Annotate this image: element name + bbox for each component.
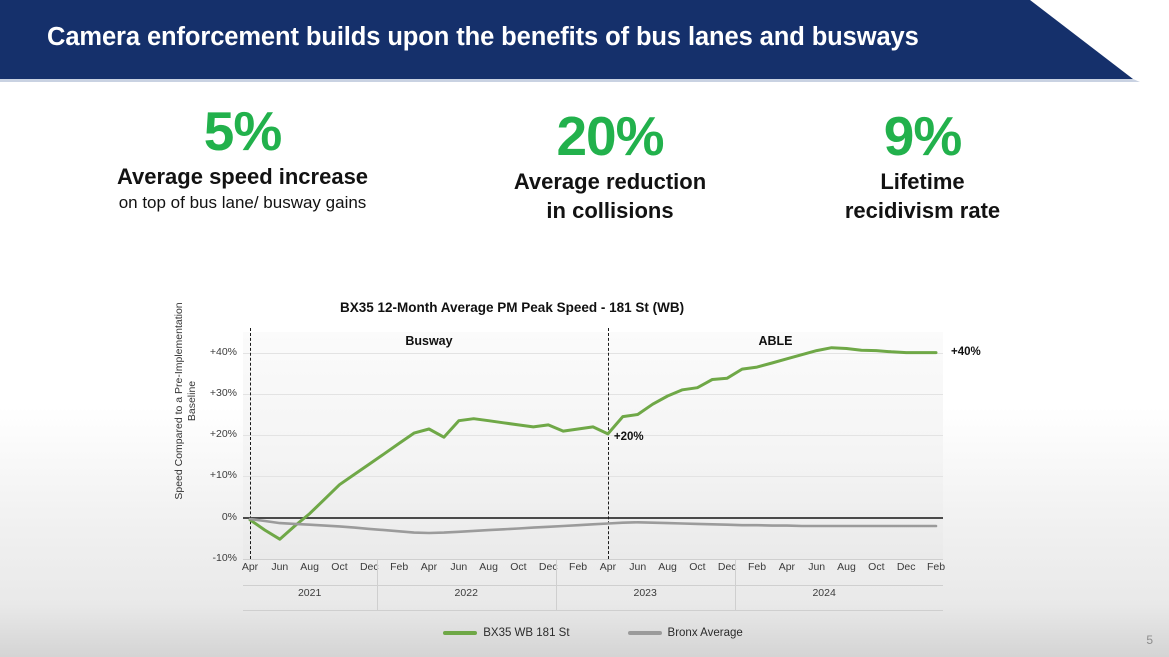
x-axis-month-tick: Apr	[600, 561, 616, 573]
x-axis-month-tick: Feb	[748, 561, 766, 573]
stat-headline-line1: Lifetime	[775, 167, 1070, 196]
x-axis-month-tick: Feb	[569, 561, 587, 573]
legend-label: Bronx Average	[668, 627, 743, 639]
legend-item-bronx-average: Bronx Average	[628, 627, 743, 639]
x-axis-year-label: 2023	[634, 587, 657, 599]
y-axis-tick: +30%	[177, 387, 237, 399]
legend-label: BX35 WB 181 St	[483, 627, 569, 639]
y-axis-tick: +10%	[177, 469, 237, 481]
y-axis-tick: 0%	[177, 511, 237, 523]
series-line-bronx-average	[250, 519, 936, 533]
page-title: Camera enforcement builds upon the benef…	[47, 23, 919, 52]
callout-40: +40%	[951, 346, 981, 358]
x-axis-month-tick: Jun	[808, 561, 825, 573]
x-axis-month-tick: Oct	[331, 561, 347, 573]
chart-legend: BX35 WB 181 St Bronx Average	[243, 622, 943, 644]
phase-label-able: ABLE	[758, 334, 792, 348]
series-line-bx35-wb-181-st	[250, 348, 936, 540]
axis-rule	[243, 559, 943, 560]
x-axis-month-tick: Feb	[390, 561, 408, 573]
stat-number: 20%	[455, 105, 765, 167]
x-axis-month-tick: Apr	[242, 561, 258, 573]
phase-label-busway: Busway	[405, 334, 452, 348]
x-axis-month-tick: Oct	[689, 561, 705, 573]
x-axis-month-tick: Apr	[779, 561, 795, 573]
x-axis-month-tick: Jun	[629, 561, 646, 573]
x-axis-band: AprJunAugOctDecFebAprJunAugOctDecFebAprJ…	[243, 559, 943, 611]
x-axis-month-tick: Jun	[271, 561, 288, 573]
x-axis-month-tick: Aug	[837, 561, 856, 573]
stat-subtext: on top of bus lane/ busway gains	[20, 191, 465, 215]
axis-rule	[243, 610, 943, 611]
series-layer	[243, 332, 943, 559]
x-axis-month-tick: Feb	[927, 561, 945, 573]
callout-20: +20%	[614, 431, 644, 443]
stat-card-recidivism: 9% Lifetime recidivism rate	[775, 105, 1070, 225]
stat-headline-line1: Average reduction	[455, 167, 765, 196]
stat-headline: Average speed increase	[20, 162, 465, 191]
x-axis-month-tick: Oct	[510, 561, 526, 573]
x-axis-year-separator	[735, 559, 736, 611]
stats-row: 5% Average speed increase on top of bus …	[0, 100, 1169, 260]
x-axis-month-tick: Aug	[658, 561, 677, 573]
stat-number: 9%	[775, 105, 1070, 167]
plot-area: +40%+30%+20%+10%0%-10%BuswayABLE+20%+40%	[243, 332, 943, 559]
x-axis-month-tick: Aug	[479, 561, 498, 573]
stat-headline-line2: in collisions	[455, 196, 765, 225]
y-axis-tick: +20%	[177, 428, 237, 440]
slide: Camera enforcement builds upon the benef…	[0, 0, 1169, 657]
page-number: 5	[1146, 633, 1153, 647]
stat-card-collision-reduction: 20% Average reduction in collisions	[455, 105, 765, 225]
y-axis-tick: +40%	[177, 346, 237, 358]
axis-rule	[243, 585, 943, 586]
x-axis-year-label: 2022	[455, 587, 478, 599]
stat-headline-line2: recidivism rate	[775, 196, 1070, 225]
legend-swatch-gray	[628, 631, 662, 635]
x-axis-month-tick: Apr	[421, 561, 437, 573]
legend-item-bx35: BX35 WB 181 St	[443, 627, 569, 639]
x-axis-month-tick: Jun	[450, 561, 467, 573]
x-axis-year-separator	[377, 559, 378, 611]
stat-card-speed-increase: 5% Average speed increase on top of bus …	[20, 100, 465, 215]
chart-title: BX35 12-Month Average PM Peak Speed - 18…	[340, 300, 684, 315]
stat-number: 5%	[20, 100, 465, 162]
x-axis-year-label: 2021	[298, 587, 321, 599]
x-axis-month-tick: Oct	[868, 561, 884, 573]
x-axis-month-tick: Dec	[897, 561, 916, 573]
x-axis-year-separator	[556, 559, 557, 611]
legend-swatch-green	[443, 631, 477, 635]
x-axis-month-tick: Aug	[300, 561, 319, 573]
x-axis-year-label: 2024	[812, 587, 835, 599]
chart-container: BX35 12-Month Average PM Peak Speed - 18…	[140, 296, 1020, 651]
header-underline	[0, 79, 1140, 82]
y-axis-tick: -10%	[177, 552, 237, 564]
